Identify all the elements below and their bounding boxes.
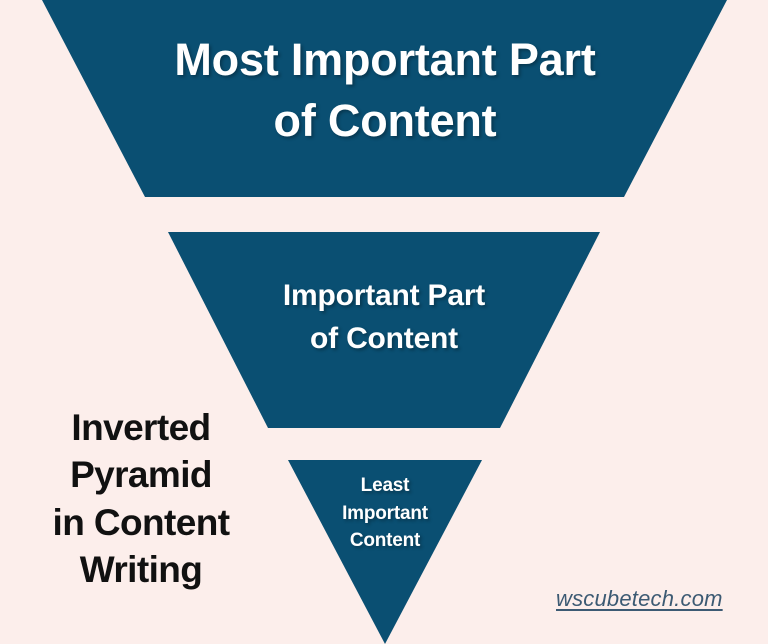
tier-1-shape bbox=[42, 0, 727, 197]
infographic-canvas: Most Important Part of Content Important… bbox=[0, 0, 768, 644]
tier-3-shape bbox=[288, 460, 482, 644]
tier-2-shape bbox=[168, 232, 600, 428]
watermark-link[interactable]: wscubetech.com bbox=[556, 586, 723, 612]
diagram-caption: Inverted Pyramid in Content Writing bbox=[12, 404, 270, 593]
